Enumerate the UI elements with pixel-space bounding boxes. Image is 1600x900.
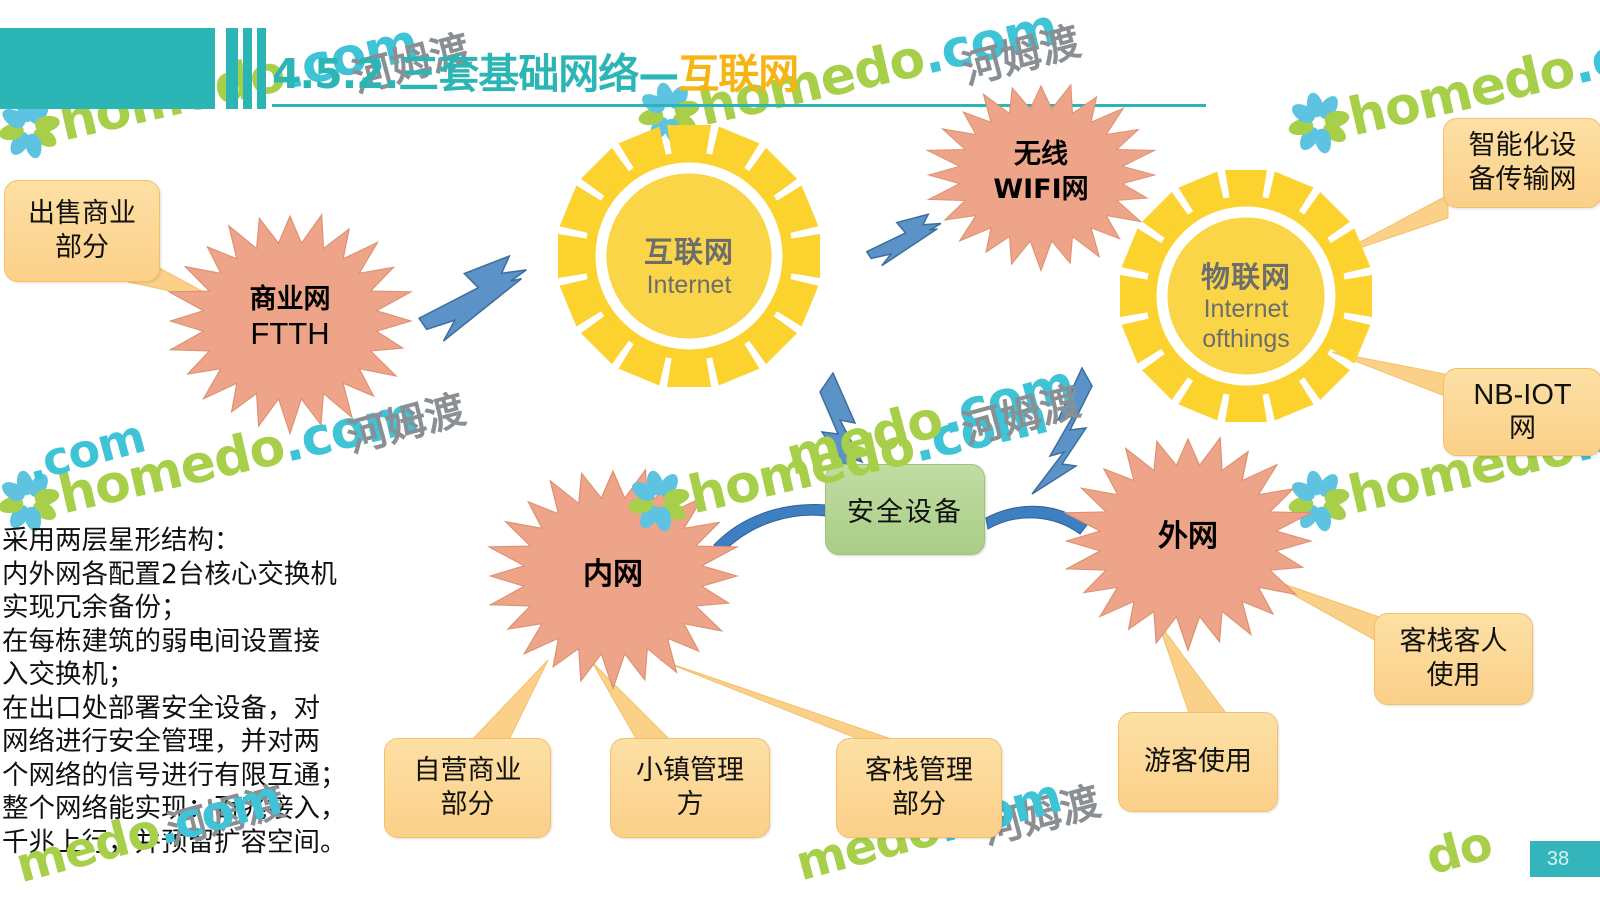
callout-tourist-use-label: 游客使用 (1136, 745, 1260, 779)
gear-iot-label-en-1: Internet (1120, 294, 1372, 324)
callout-inn-management[interactable]: 客栈管理 部分 (836, 738, 1000, 836)
burst-wifi-label-line2: WIFI网 (930, 173, 1152, 207)
callout-inn-guest-label: 客栈客人 使用 (1392, 625, 1516, 693)
gear-internet-label-cn: 互联网 (558, 229, 820, 271)
callout-nb-iot-label-2: 网 (1501, 412, 1544, 446)
gear-iot[interactable]: 物联网 Internet ofthings (1120, 170, 1372, 422)
burst-commercial-label-cn: 商业网 (172, 283, 408, 317)
gear-internet[interactable]: 互联网 Internet (558, 125, 820, 387)
burst-extranet-label: 外网 (1068, 520, 1308, 554)
burst-intranet-label: 内网 (492, 558, 734, 592)
burst-wifi-label-line1: 无线 (930, 138, 1152, 172)
page-number: 38 (1530, 848, 1586, 871)
security-device-label: 安全设备 (847, 490, 963, 529)
callout-inn-management-label: 客栈管理 部分 (857, 754, 981, 822)
callout-nb-iot-label-1: NB-IOT (1465, 378, 1579, 412)
callout-smart-device-transmission[interactable]: 智能化设 备传输网 (1443, 118, 1600, 206)
burst-wifi-network[interactable]: 无线 WIFI网 (930, 85, 1152, 265)
callout-town-management[interactable]: 小镇管理 方 (610, 738, 768, 836)
burst-commercial-label-lat: FTTH (172, 317, 408, 351)
gear-internet-label-en: Internet (558, 270, 820, 300)
callout-nb-iot[interactable]: NB-IOT 网 (1443, 368, 1600, 454)
gear-iot-label-cn: 物联网 (1120, 254, 1372, 296)
slide-canvas: homedo.com 河姆渡 homedo.com 河姆渡 (0, 0, 1600, 900)
callout-inn-guest-use[interactable]: 客栈客人 使用 (1374, 613, 1531, 703)
burst-extranet[interactable]: 外网 (1068, 438, 1308, 644)
callout-self-run-commercial-label: 自营商业 部分 (406, 754, 530, 822)
burst-intranet[interactable]: 内网 (492, 470, 734, 682)
lightning-bolt-commercial-to-internet (412, 254, 534, 344)
burst-commercial-network[interactable]: 商业网 FTTH (172, 215, 408, 427)
security-device-box[interactable]: 安全设备 (825, 464, 985, 555)
callout-sell-commercial-label: 出售商业 部分 (20, 197, 144, 265)
description-paragraph: 采用两层星形结构： 内外网各配置2台核心交换机 实现冗余备份； 在每栋建筑的弱电… (2, 524, 354, 859)
callout-tourist-use[interactable]: 游客使用 (1118, 712, 1276, 810)
callout-smart-device-label: 智能化设 备传输网 (1461, 129, 1585, 197)
gear-iot-label-en-2: ofthings (1120, 324, 1372, 354)
callout-self-run-commercial[interactable]: 自营商业 部分 (384, 738, 549, 836)
callout-town-management-label: 小镇管理 方 (628, 754, 752, 822)
callout-sell-commercial[interactable]: 出售商业 部分 (4, 180, 158, 280)
